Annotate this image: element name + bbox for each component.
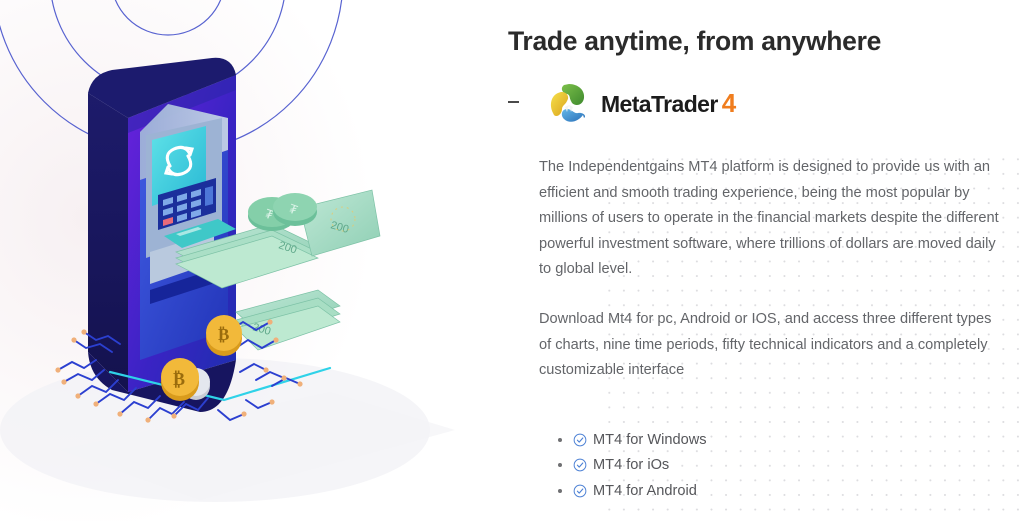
check-circle-icon [573, 458, 587, 472]
list-item-label: MT4 for Android [593, 483, 697, 499]
brand-row: MetaTrader4 [508, 78, 736, 128]
metatrader-logo-icon [545, 79, 593, 127]
bullet-dot-icon [558, 489, 562, 493]
brand-name: MetaTrader [601, 91, 718, 117]
dash-marker-icon [508, 101, 519, 103]
brand-wordmark: MetaTrader4 [601, 90, 736, 116]
svg-text:₿: ₿ [173, 369, 185, 389]
check-circle-icon [573, 484, 587, 498]
description-paragraph-1: The Independentgains MT4 platform is des… [539, 155, 1001, 283]
list-item-label: MT4 for Windows [593, 432, 707, 448]
bullet-dot-icon [558, 438, 562, 442]
page-title: Trade anytime, from anywhere [508, 26, 881, 57]
list-item[interactable]: MT4 for Android [558, 478, 707, 504]
bullet-dot-icon [558, 463, 562, 467]
page-root: 200 200 200 ₮ ₮ [0, 0, 1024, 521]
brand-version: 4 [722, 88, 736, 118]
svg-text:₿: ₿ [218, 325, 229, 344]
check-circle-icon [573, 433, 587, 447]
content-column: Trade anytime, from anywhere [500, 0, 1024, 521]
description-paragraph-2: Download Mt4 for pc, Android or IOS, and… [539, 307, 1001, 384]
list-item[interactable]: MT4 for Windows [558, 427, 707, 453]
atm-phone-crypto-illustration: 200 200 200 ₮ ₮ [0, 0, 480, 521]
list-item-label: MT4 for iOs [593, 457, 669, 473]
list-item[interactable]: MT4 for iOs [558, 453, 707, 479]
platform-download-list: MT4 for Windows MT4 for iOs MT4 for Andr… [558, 427, 707, 504]
